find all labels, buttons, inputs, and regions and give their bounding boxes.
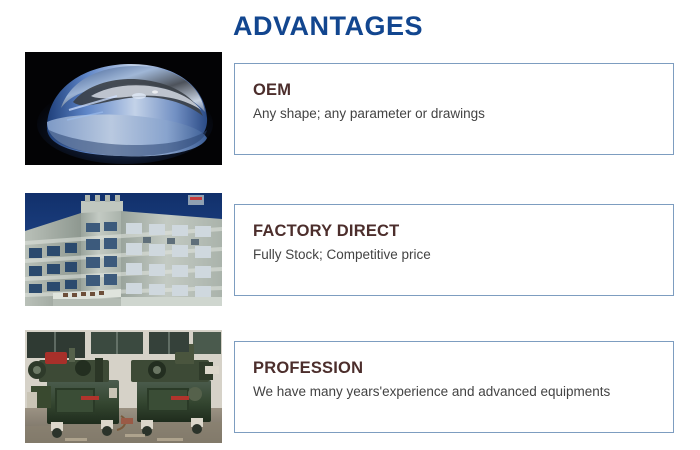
advantage-row-factory-direct: FACTORY DIRECT Fully Stock; Competitive … [0,193,700,307]
factory-building-photo [25,193,222,306]
advantage-card-content: OEM Any shape; any parameter or drawings [235,64,673,123]
advantage-card-content: FACTORY DIRECT Fully Stock; Competitive … [235,205,673,264]
advantage-description: We have many years'experience and advanc… [253,384,673,401]
factory-building-illustration [25,193,222,306]
advantages-page: ADVANTAGES [0,0,700,450]
page-title: ADVANTAGES [233,11,423,42]
machinery-workshop-photo [25,330,222,443]
advantage-card-oem: OEM Any shape; any parameter or drawings [234,63,674,155]
advantage-row-profession: PROFESSION We have many years'experience… [0,330,700,443]
advantage-heading: FACTORY DIRECT [253,222,673,240]
advantage-description: Fully Stock; Competitive price [253,247,673,264]
optical-lens-photo [25,52,222,165]
advantage-card-factory-direct: FACTORY DIRECT Fully Stock; Competitive … [234,204,674,296]
advantage-heading: PROFESSION [253,359,673,377]
machinery-workshop-illustration [25,330,222,443]
optical-lens-illustration [25,52,222,165]
advantage-heading: OEM [253,81,673,99]
advantage-card-profession: PROFESSION We have many years'experience… [234,341,674,433]
advantage-card-content: PROFESSION We have many years'experience… [235,342,673,401]
advantage-description: Any shape; any parameter or drawings [253,106,673,123]
advantage-row-oem: OEM Any shape; any parameter or drawings [0,52,700,166]
